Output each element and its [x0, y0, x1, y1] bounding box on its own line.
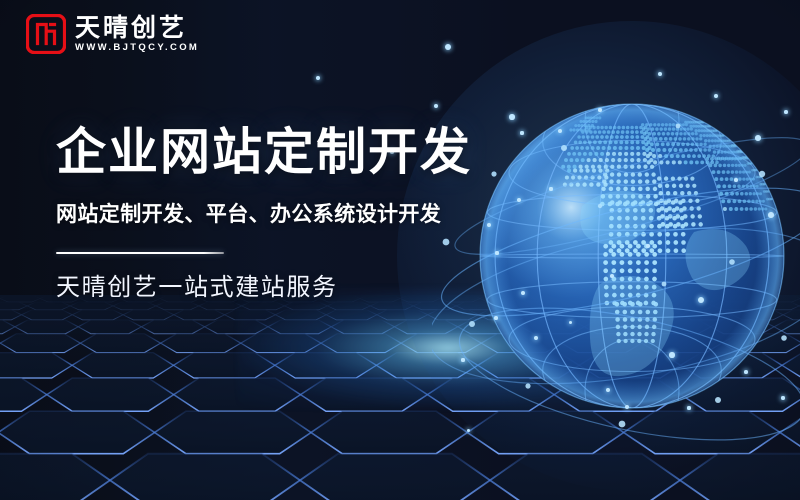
hex-cell — [479, 310, 530, 320]
hero-headline: 企业网站定制开发 — [56, 124, 472, 180]
hex-cell — [0, 334, 80, 353]
hex-cell — [241, 334, 321, 353]
hex-cell — [70, 302, 113, 310]
hex-cell — [275, 353, 377, 378]
headline-divider — [56, 252, 224, 254]
hex-cell — [681, 353, 782, 378]
hex-cell — [624, 411, 780, 454]
hex-cell — [680, 295, 720, 302]
hex-cell — [562, 334, 642, 353]
hex-cell — [199, 302, 242, 310]
hex-cell — [628, 302, 671, 310]
hex-cell — [756, 302, 799, 310]
hex-cell — [370, 302, 413, 310]
brand-logo[interactable]: 天晴创艺 WWW.BJTQCY.COM — [26, 14, 199, 54]
hex-cell — [783, 310, 800, 320]
hex-cell — [682, 310, 733, 320]
hex-cell — [458, 320, 521, 334]
hex-cell — [377, 310, 428, 320]
hex-cell — [428, 310, 479, 320]
hex-cell — [22, 310, 73, 320]
hex-cell — [321, 334, 401, 353]
hex-cell — [27, 302, 70, 310]
logo-website-url: WWW.BJTQCY.COM — [75, 43, 199, 53]
hex-cell — [72, 353, 173, 378]
hex-cell — [681, 378, 800, 411]
hex-cell — [141, 320, 204, 334]
hex-cell — [467, 411, 623, 454]
hex-cell — [774, 320, 800, 334]
hex-cell — [15, 320, 78, 334]
hex-cell — [0, 302, 27, 310]
hex-cell — [529, 310, 580, 320]
hex-cell — [490, 454, 680, 500]
hex-cell — [427, 378, 554, 411]
hex-cell — [110, 454, 300, 500]
hex-cell — [713, 302, 756, 310]
hex-cell — [648, 320, 711, 334]
hex-cell — [478, 353, 579, 378]
hex-cell — [301, 378, 428, 411]
hex-cell — [174, 310, 225, 320]
hex-cell — [123, 310, 174, 320]
hex-cell — [680, 454, 800, 500]
hex-cell — [205, 320, 268, 334]
hex-cell — [395, 320, 458, 334]
hero-banner: 天晴创艺 WWW.BJTQCY.COM 企业网站定制开发 网站定制开发、平台、办… — [0, 0, 800, 500]
hex-cell — [225, 310, 276, 320]
logo-mark-icon — [26, 14, 66, 54]
hex-cell — [80, 334, 160, 353]
hex-cell — [760, 295, 800, 302]
hex-cell — [780, 411, 800, 454]
hex-cell — [554, 378, 681, 411]
hex-cell — [480, 295, 520, 302]
hex-cell — [155, 411, 311, 454]
hex-cell — [174, 378, 301, 411]
hex-cell — [0, 454, 110, 500]
hex-cell — [481, 334, 561, 353]
hex-cell — [520, 295, 560, 302]
hex-cell — [0, 378, 47, 411]
hex-cell — [0, 320, 15, 334]
hex-cell — [580, 310, 631, 320]
hex-cell — [376, 353, 477, 378]
hex-cell — [242, 302, 285, 310]
hex-cell — [560, 295, 600, 302]
hex-cell — [311, 411, 467, 454]
hex-cell — [782, 353, 800, 378]
hex-cell — [401, 334, 481, 353]
hex-cell — [161, 334, 241, 353]
hex-cell — [0, 295, 40, 302]
hex-cell — [711, 320, 774, 334]
hex-cell — [327, 302, 370, 310]
hex-cell — [268, 320, 331, 334]
hex-cell — [720, 295, 760, 302]
hex-cell — [642, 334, 722, 353]
hex-cell — [413, 302, 456, 310]
hero-tagline: 天晴创艺一站式建站服务 — [56, 274, 472, 303]
hex-cell — [456, 302, 499, 310]
hex-cell — [499, 302, 542, 310]
hex-cell — [542, 302, 585, 310]
hex-cell — [579, 353, 680, 378]
hex-cell — [585, 302, 628, 310]
hex-cell — [174, 353, 275, 378]
hex-cell — [600, 295, 640, 302]
hex-cell — [0, 310, 22, 320]
hex-cell — [631, 310, 682, 320]
hex-cell — [0, 411, 155, 454]
hero-subheadline: 网站定制开发、平台、办公系统设计开发 — [56, 202, 472, 227]
hex-cell — [275, 310, 326, 320]
hex-cell — [78, 320, 141, 334]
hex-cell — [72, 310, 123, 320]
hex-cell — [732, 310, 783, 320]
hex-cell — [285, 302, 328, 310]
logo-company-name: 天晴创艺 — [75, 16, 199, 41]
hex-cell — [47, 378, 174, 411]
hex-cell — [640, 295, 680, 302]
hex-cell — [326, 310, 377, 320]
hex-cell — [0, 353, 72, 378]
hero-copy-block: 企业网站定制开发 网站定制开发、平台、办公系统设计开发 天晴创艺一站式建站服务 — [56, 124, 472, 303]
hex-cell — [521, 320, 584, 334]
hex-cell — [300, 454, 490, 500]
hex-cell — [156, 302, 199, 310]
hex-cell — [113, 302, 156, 310]
hex-cell — [584, 320, 647, 334]
hex-cell — [671, 302, 714, 310]
hex-cell — [722, 334, 800, 353]
hex-cell — [331, 320, 394, 334]
hexagonal-grid-floor — [0, 295, 800, 500]
